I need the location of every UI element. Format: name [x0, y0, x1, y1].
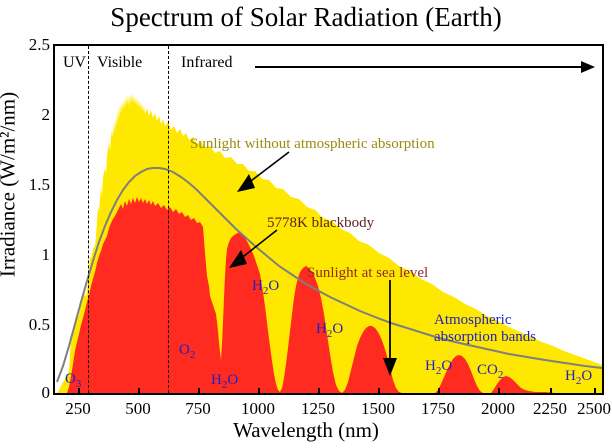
y-tick-label: 1: [42, 245, 51, 265]
x-tick-label: 2250: [533, 399, 567, 419]
x-tick-mark: [378, 388, 380, 395]
x-tick-mark: [550, 388, 552, 395]
annotation-toa-label: Sunlight without atmospheric absorption: [190, 136, 435, 153]
x-tick-mark: [78, 388, 80, 395]
x-tick-mark: [258, 388, 260, 395]
annotation-toa-arrow-icon: [233, 150, 293, 194]
x-tick-mark: [438, 388, 440, 395]
x-tick-mark: [198, 388, 200, 395]
band-label-visible: Visible: [97, 54, 142, 72]
molecule-h2o-o: O: [268, 278, 279, 294]
x-tick-label: 500: [125, 399, 151, 419]
x-tick-mark: [138, 388, 140, 395]
y-tick-label: 0.5: [29, 315, 50, 335]
y-tick-label: 2.5: [29, 35, 50, 55]
x-tick-label: 1250: [301, 399, 335, 419]
molecule-label-h2o-2: H2O: [252, 278, 279, 297]
band-label-uv: UV: [63, 54, 86, 72]
chart-title: Spectrum of Solar Radiation (Earth): [0, 0, 612, 36]
molecule-h2o-o: O: [441, 358, 452, 374]
molecule-label-h2o-1: H2O: [211, 372, 238, 391]
x-tick-label: 750: [185, 399, 211, 419]
molecule-h2o-o: O: [227, 372, 238, 388]
x-tick-label: 1500: [361, 399, 395, 419]
x-tick-label: 1000: [241, 399, 275, 419]
molecule-o2-subscript: 2: [190, 349, 196, 361]
y-axis-ticks: 2.5 2 1.5 1 0.5 0: [0, 44, 50, 395]
plot-area: UV Visible Infrared Sunlight without atm…: [53, 44, 604, 395]
molecule-label-o2: O2: [179, 342, 195, 361]
molecule-h2o-h: H: [252, 278, 263, 294]
band-divider-uv-visible: [88, 46, 89, 393]
x-tick-mark: [498, 388, 500, 395]
x-tick-label: 250: [65, 399, 91, 419]
molecule-h2o-o: O: [332, 321, 343, 337]
molecule-h2o-h: H: [565, 368, 576, 384]
molecule-label-h2o-4: H2O: [425, 358, 452, 377]
annotation-blackbody-label: 5778K blackbody: [267, 215, 374, 232]
x-axis-label: Wavelength (nm): [0, 418, 612, 443]
molecule-h2o-h: H: [211, 372, 222, 388]
y-tick-label: 1.5: [29, 175, 50, 195]
infrared-arrow-icon: [255, 60, 595, 74]
chart-root: Spectrum of Solar Radiation (Earth) Irra…: [0, 0, 612, 448]
y-tick-label: 2: [42, 105, 51, 125]
molecule-h2o-o: O: [581, 368, 592, 384]
molecule-o2-element: O: [179, 342, 190, 358]
molecule-co2-element: CO: [477, 362, 498, 378]
annotation-sealevel-label: Sunlight at sea level: [307, 265, 428, 282]
x-tick-mark: [318, 388, 320, 395]
molecule-label-h2o-5: H2O: [565, 368, 592, 387]
annotation-sealevel-arrow-icon: [382, 280, 398, 376]
molecule-h2o-h: H: [316, 321, 327, 337]
molecule-label-h2o-3: H2O: [316, 321, 343, 340]
band-divider-visible-infrared: [168, 46, 169, 393]
x-tick-label: 2500: [577, 399, 611, 419]
band-label-infrared: Infrared: [181, 54, 233, 72]
annotation-absorption-bands-line1: Atmospheric: [434, 312, 554, 329]
annotation-absorption-bands-line2: absorption bands: [434, 329, 554, 346]
molecule-co2-subscript: 2: [498, 369, 504, 381]
molecule-o3-element: O: [65, 371, 76, 387]
molecule-h2o-h: H: [425, 358, 436, 374]
molecule-label-co2: CO2: [477, 362, 503, 381]
x-tick-label: 2000: [481, 399, 515, 419]
x-tick-label: 1750: [421, 399, 455, 419]
x-tick-mark: [594, 388, 596, 395]
annotation-blackbody-arrow-icon: [225, 228, 281, 272]
